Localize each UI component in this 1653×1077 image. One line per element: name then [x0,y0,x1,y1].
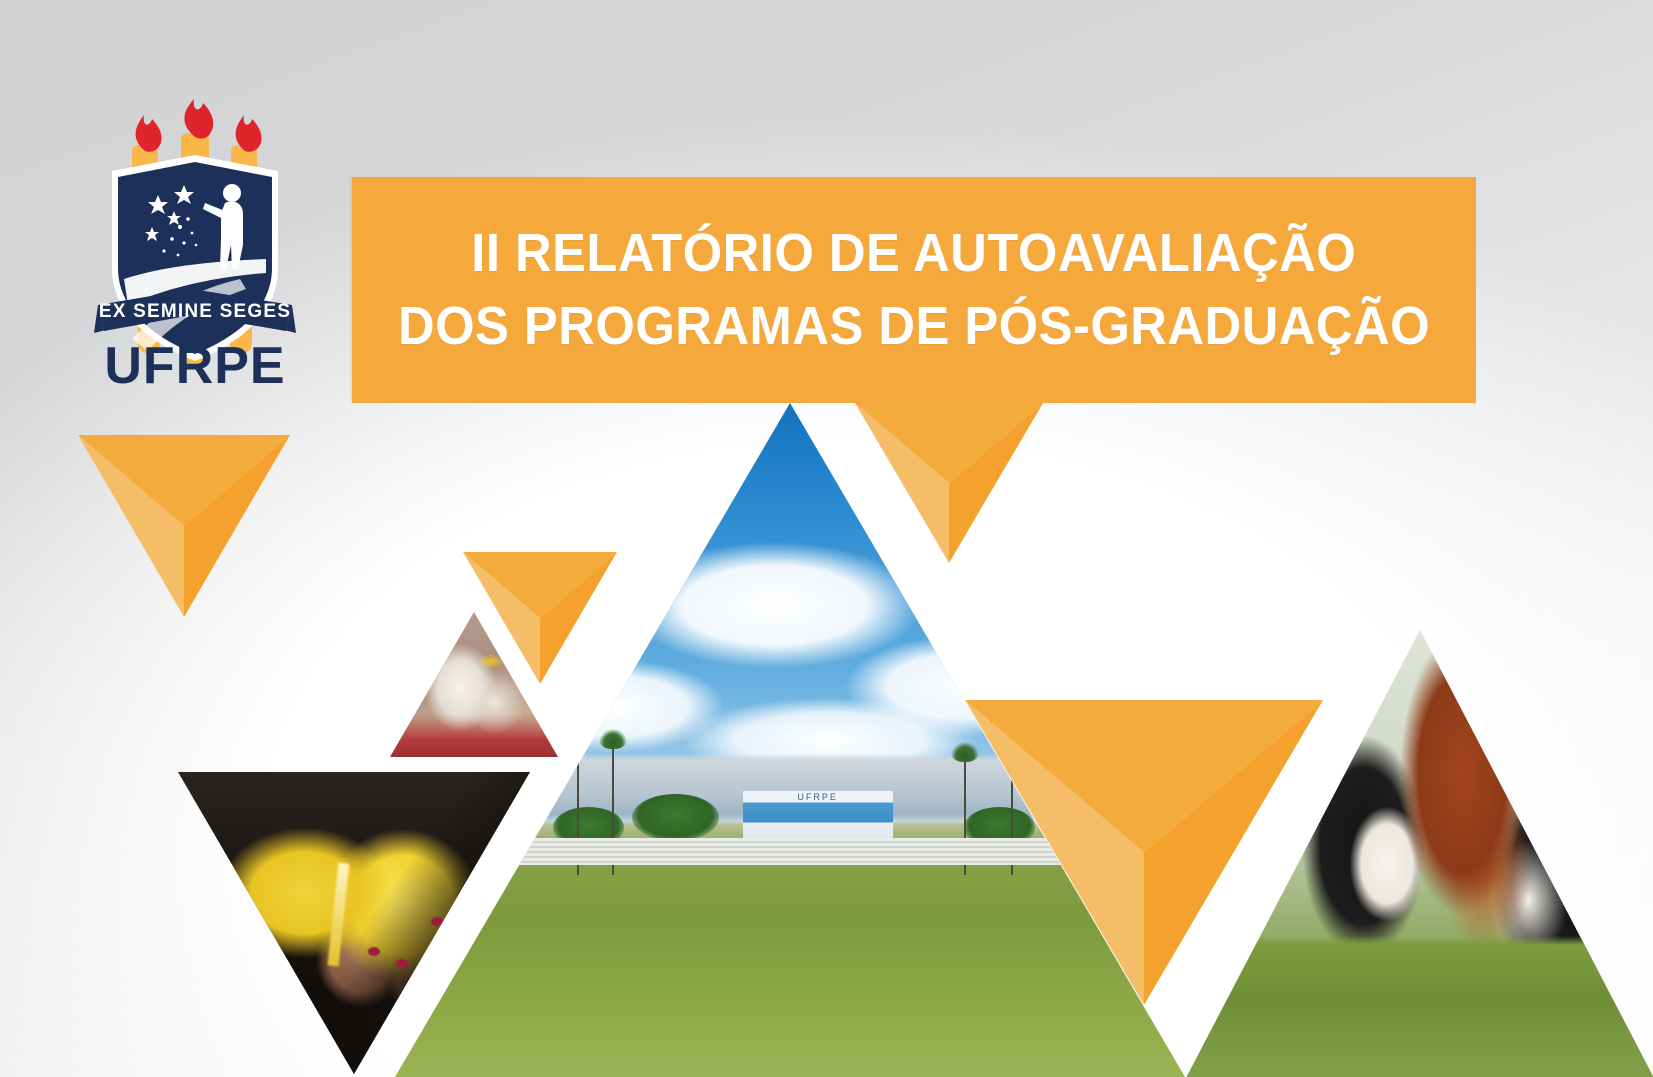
report-title-line-2: DOS PROGRAMAS DE PÓS-GRADUAÇÃO [398,290,1430,363]
ufrpe-logo: EX SEMINE SEGES UFRPE [80,78,310,408]
report-title-line-1: II RELATÓRIO DE AUTOAVALIAÇÃO [471,217,1356,290]
fingernail [431,917,443,926]
fingernail [368,947,380,956]
ufrpe-wordmark: UFRPE [80,336,310,396]
decor-triangle-right-large [965,700,1323,1005]
decor-triangle-under-banner [855,403,1043,563]
book-spine [328,862,349,965]
report-cover-page: EX SEMINE SEGES UFRPE UFRPE [0,0,1653,1077]
campus-main-building: UFRPE [743,791,893,842]
fingernail [396,959,408,968]
decor-triangle-top-left [78,435,290,617]
decor-triangle-mid-left [463,552,617,684]
tree-icon [632,794,719,841]
motto-text: EX SEMINE SEGES [99,301,291,322]
building-label: UFRPE [743,792,893,802]
report-title-banner: II RELATÓRIO DE AUTOAVALIAÇÃO DOS PROGRA… [352,177,1476,403]
